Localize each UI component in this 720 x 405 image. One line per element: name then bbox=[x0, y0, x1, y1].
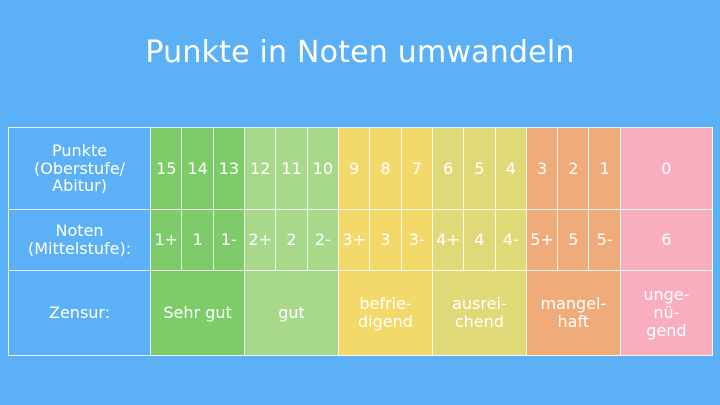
points-cell-0: 15 bbox=[151, 128, 182, 210]
zensur-cell-1: gut bbox=[245, 271, 339, 356]
grade-cell-12: 5+ bbox=[526, 210, 557, 271]
points-cell-3: 12 bbox=[245, 128, 276, 210]
row-label-grades: Noten (Mittelstufe): bbox=[9, 210, 151, 271]
grade-cell-7: 3 bbox=[370, 210, 401, 271]
points-cell-12: 3 bbox=[526, 128, 557, 210]
slide-canvas: Punkte in Noten umwandeln Punkte (Oberst… bbox=[0, 0, 720, 405]
points-cell-13: 2 bbox=[558, 128, 589, 210]
table-row-points: Punkte (Oberstufe/ Abitur) 1514131211109… bbox=[9, 128, 713, 210]
grade-cell-0: 1+ bbox=[151, 210, 182, 271]
points-cell-7: 8 bbox=[370, 128, 401, 210]
points-cell-11: 4 bbox=[495, 128, 526, 210]
points-cell-5: 10 bbox=[307, 128, 338, 210]
table-row-zensur: Zensur: Sehr gutgutbefrie- digendausrei-… bbox=[9, 271, 713, 356]
points-cell-10: 5 bbox=[464, 128, 495, 210]
page-title: Punkte in Noten umwandeln bbox=[0, 36, 720, 69]
zensur-cell-2: befrie- digend bbox=[338, 271, 432, 356]
grade-conversion-table: Punkte (Oberstufe/ Abitur) 1514131211109… bbox=[8, 127, 713, 356]
points-cell-4: 11 bbox=[276, 128, 307, 210]
zensur-cell-0: Sehr gut bbox=[151, 271, 245, 356]
grade-cell-14: 5- bbox=[589, 210, 620, 271]
row-label-zensur: Zensur: bbox=[9, 271, 151, 356]
points-cell-1: 14 bbox=[182, 128, 213, 210]
zensur-cell-3: ausrei- chend bbox=[432, 271, 526, 356]
grade-cell-15: 6 bbox=[620, 210, 712, 271]
row-label-points: Punkte (Oberstufe/ Abitur) bbox=[9, 128, 151, 210]
grade-cell-9: 4+ bbox=[432, 210, 463, 271]
grade-cell-5: 2- bbox=[307, 210, 338, 271]
zensur-cell-4: mangel- haft bbox=[526, 271, 620, 356]
grade-cell-6: 3+ bbox=[338, 210, 369, 271]
grade-cell-11: 4- bbox=[495, 210, 526, 271]
grade-cell-2: 1- bbox=[213, 210, 244, 271]
grade-cell-13: 5 bbox=[558, 210, 589, 271]
points-cell-8: 7 bbox=[401, 128, 432, 210]
grade-cell-4: 2 bbox=[276, 210, 307, 271]
grade-cell-10: 4 bbox=[464, 210, 495, 271]
grade-cell-1: 1 bbox=[182, 210, 213, 271]
points-cell-14: 1 bbox=[589, 128, 620, 210]
points-cell-15: 0 bbox=[620, 128, 712, 210]
grade-cell-3: 2+ bbox=[245, 210, 276, 271]
grade-cell-8: 3- bbox=[401, 210, 432, 271]
zensur-cell-5: unge- nü- gend bbox=[620, 271, 712, 356]
table-row-grades: Noten (Mittelstufe): 1+11-2+22-3+33-4+44… bbox=[9, 210, 713, 271]
points-cell-2: 13 bbox=[213, 128, 244, 210]
points-cell-9: 6 bbox=[432, 128, 463, 210]
points-cell-6: 9 bbox=[338, 128, 369, 210]
